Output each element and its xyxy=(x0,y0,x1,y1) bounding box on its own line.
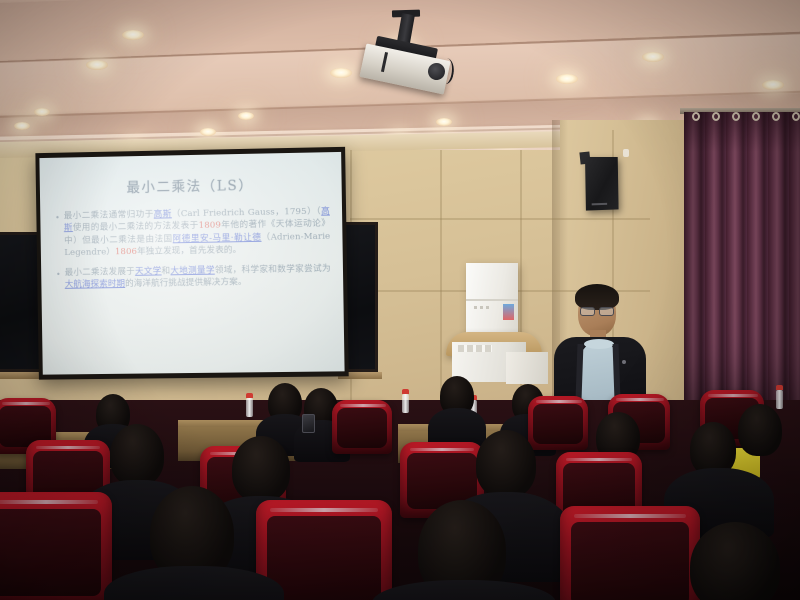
slide-text-segment: 使用的最小二乘法的方法发表于 xyxy=(73,221,199,233)
seat-trim xyxy=(708,394,758,397)
curtain-grommet-icon xyxy=(692,112,700,121)
slide-bullet-1: • 最小二乘法通常归功于高斯（Carl Friedrich Gauss，1795… xyxy=(52,205,331,259)
curtain-grommet-icon xyxy=(732,112,740,121)
water-bottle xyxy=(402,394,409,413)
ceiling-downlight xyxy=(330,68,352,78)
slide-text-segment: （Carl Friedrich Gauss，1795）（ xyxy=(172,207,321,220)
slide-text-segment: 大地测量学 xyxy=(170,265,215,276)
blackboard-left xyxy=(0,232,42,372)
cabinet-sticker xyxy=(503,304,514,320)
water-bottle xyxy=(776,390,783,409)
bottle-cap xyxy=(776,385,783,390)
wall-sensor-icon xyxy=(623,149,629,157)
ceiling-downlight xyxy=(436,118,452,126)
slide-text-segment: 最小二乘法发展于 xyxy=(65,267,136,278)
cabinet-seam xyxy=(466,299,518,301)
ceiling-downlight xyxy=(200,128,216,136)
mobile-phone[interactable] xyxy=(302,414,315,433)
auditorium-seat[interactable] xyxy=(332,400,392,454)
slide-text-segment: 年独立发现，首先发表的。 xyxy=(137,245,241,257)
projection-screen-frame: 最小二乘法（LS） • 最小二乘法通常归功于高斯（Carl Friedrich … xyxy=(35,147,348,380)
seat-trim xyxy=(0,500,98,504)
podium-side-panel xyxy=(506,352,548,384)
ceiling-downlight xyxy=(762,80,784,90)
bottle-cap xyxy=(246,393,253,398)
slide-text-segment: 1809 xyxy=(199,221,221,231)
seat-trim xyxy=(574,514,686,518)
auditorium-seat[interactable] xyxy=(0,492,112,600)
auditorium-seat[interactable] xyxy=(528,396,588,450)
wall-panel-seam xyxy=(440,150,442,410)
curtain-grommet-icon xyxy=(712,112,720,121)
bullet-marker-icon: • xyxy=(56,267,61,292)
slide-bullet-2-text: 最小二乘法发展于天文学和大地测量学领域，科学家和数学家尝试为大航海探索时期的海洋… xyxy=(65,262,332,291)
presenter-badge-icon xyxy=(622,360,626,364)
slide-title: 最小二乘法（LS） xyxy=(52,172,330,197)
wall-panel-seam xyxy=(350,218,650,220)
seat-trim xyxy=(410,448,474,451)
seat-trim xyxy=(536,400,582,403)
audience-head xyxy=(110,424,164,486)
seat-trim xyxy=(340,404,386,407)
curtain-shadow xyxy=(684,112,800,152)
podium-control-buttons[interactable] xyxy=(458,345,492,352)
ceiling-downlight xyxy=(238,112,254,120)
ceiling-downlight xyxy=(642,52,664,62)
audience-head xyxy=(476,430,536,498)
projection-screen[interactable]: 最小二乘法（LS） • 最小二乘法通常归功于高斯（Carl Friedrich … xyxy=(39,152,344,375)
seat-trim xyxy=(36,446,100,449)
slide-text-segment: 高斯 xyxy=(154,209,172,219)
ceiling-downlight xyxy=(14,122,30,130)
wall-speaker xyxy=(585,157,619,211)
slide-bullet-1-text: 最小二乘法通常归功于高斯（Carl Friedrich Gauss，1795）（… xyxy=(64,205,331,259)
slide-bullet-2: • 最小二乘法发展于天文学和大地测量学领域，科学家和数学家尝试为大航海探索时期的… xyxy=(53,262,331,291)
cabinet-vent-icon xyxy=(474,306,492,309)
ceiling-downlight xyxy=(34,108,50,116)
auditorium-seat[interactable] xyxy=(560,506,700,600)
ceiling-downlight xyxy=(556,74,578,84)
slide-text-segment: 领域，科学家和数学家尝试为 xyxy=(215,263,331,275)
presenter-collar xyxy=(584,339,614,349)
seat-trim xyxy=(616,398,664,401)
speaker-label xyxy=(592,203,607,206)
slide-text-segment: 天文学 xyxy=(135,266,162,276)
slide-text-segment: 最小二乘法通常归功于 xyxy=(64,210,154,222)
curtain-grommet-icon xyxy=(772,112,780,121)
curtain-grommet-icon xyxy=(752,112,760,121)
curtain-grommet-icon xyxy=(792,112,800,121)
seat-trim xyxy=(2,402,50,405)
audience-head xyxy=(738,404,782,456)
window-curtain[interactable] xyxy=(684,112,800,432)
ceiling-downlight xyxy=(122,30,144,40)
glasses-icon xyxy=(580,307,614,314)
seat-trim xyxy=(566,458,632,461)
seat-trim xyxy=(270,508,378,512)
bottle-cap xyxy=(402,389,409,394)
slide-text-segment: 的海洋航行挑战提供解决方案。 xyxy=(125,277,247,289)
lecture-hall-photo: 最小二乘法（LS） • 最小二乘法通常归功于高斯（Carl Friedrich … xyxy=(0,0,800,600)
bullet-marker-icon: • xyxy=(55,210,60,259)
water-bottle xyxy=(246,398,253,417)
ceiling-downlight xyxy=(86,60,108,70)
slide-text-segment: 1806 xyxy=(115,247,137,257)
audience-head xyxy=(232,436,290,502)
slide-text-segment: 阿德里安-马里·勒让德 xyxy=(173,233,262,245)
slide-text-segment: 大航海探索时期 xyxy=(65,279,125,290)
